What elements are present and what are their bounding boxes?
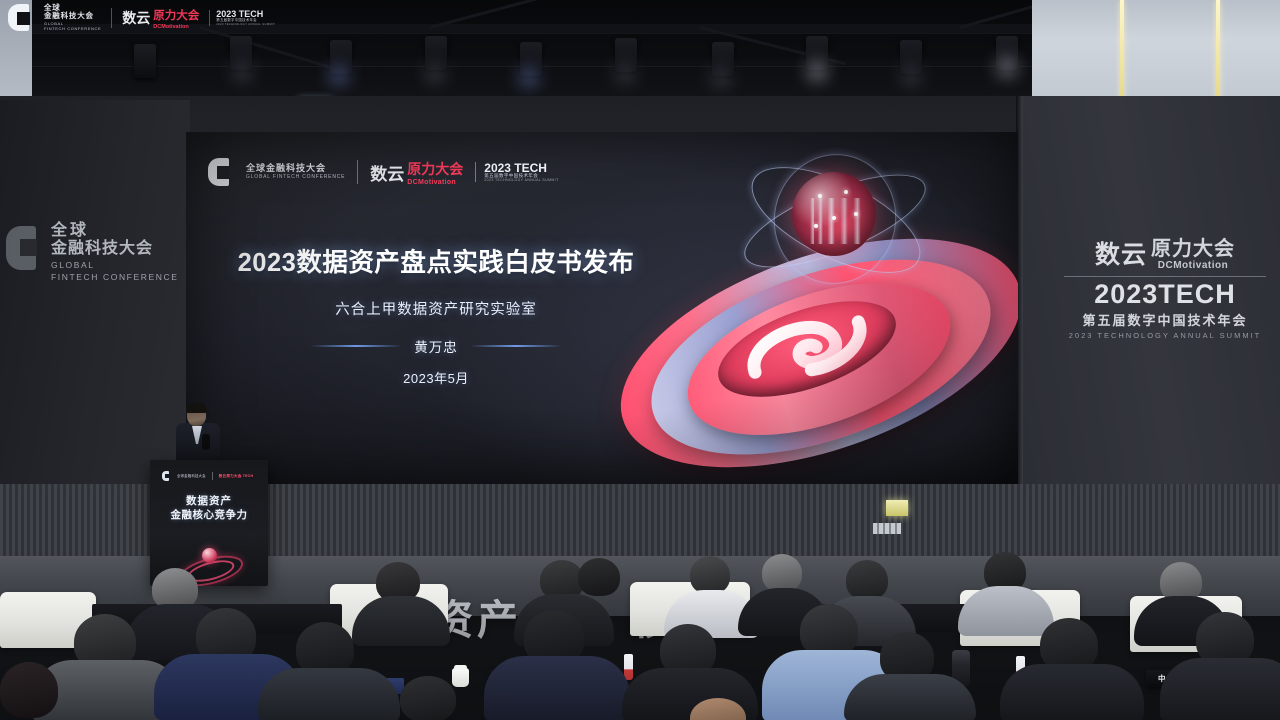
slide-subtitle: 六合上甲数据资产研究实验室 xyxy=(226,298,646,319)
watermark-en-line2: FINTECH CONFERENCE xyxy=(44,27,101,31)
city-skyline-overlay xyxy=(810,198,864,244)
slide-speaker-name: 黄万忠 xyxy=(414,336,458,356)
light-glow xyxy=(512,60,546,94)
fintech-logo-icon xyxy=(208,158,234,186)
right-sign-en-sub: DCMotivation xyxy=(1151,260,1235,271)
audience-head xyxy=(690,556,730,594)
wall-vent-panel xyxy=(873,523,901,534)
light-glow xyxy=(225,54,259,88)
right-wall-signage: 数云 原力大会 DCMotivation 2023TECH 第五届数字中国技术年… xyxy=(1062,232,1268,340)
audience-head xyxy=(400,676,456,720)
light-glow xyxy=(608,56,642,90)
dc-en-text: DCMotivation xyxy=(407,179,463,186)
data-sphere xyxy=(792,172,876,256)
right-sign-yuanli: 原力大会 xyxy=(1151,238,1235,260)
podium-line2: 金融核心竞争力 xyxy=(150,509,268,523)
led-presentation-screen: 全球金融科技大会 GLOBAL FINTECH CONFERENCE 数云 原力… xyxy=(186,132,1018,484)
podium-text-block: 数据资产 金融核心竞争力 xyxy=(150,495,268,523)
podium-line1: 数据资产 xyxy=(150,495,268,509)
fintech-logo-icon xyxy=(162,471,171,481)
light-glow xyxy=(990,50,1024,84)
watermark-dc-en: DCMotivation xyxy=(153,24,199,30)
band-accent-line xyxy=(1120,0,1124,100)
audience-head xyxy=(0,662,58,718)
tech-en-text: 2023 TECHNOLOGY ANNUAL SUMMIT xyxy=(484,179,558,183)
presenter-figure xyxy=(176,404,220,466)
audience-shoulders xyxy=(258,668,400,720)
right-sign-cn-line: 第五届数字中国技术年会 xyxy=(1062,310,1268,329)
audience-area: 中国进出口银行 中信银行 中信银行 xyxy=(0,548,1280,720)
presenter-hair xyxy=(186,403,207,413)
audience-shoulders xyxy=(484,656,630,720)
left-sign-en-line1: GLOBAL xyxy=(51,261,179,271)
fintech-logo-icon xyxy=(6,226,44,270)
tech-summit-logo: 2023 TECH 第五届数字中国技术年会 2023 TECHNOLOGY AN… xyxy=(475,162,558,183)
light-glow xyxy=(418,56,452,90)
stage-light-fixture xyxy=(134,44,156,78)
light-glow xyxy=(894,58,928,92)
right-sign-shu: 数云 xyxy=(1095,235,1147,271)
left-wall-signage: 全球 金融科技大会 GLOBAL FINTECH CONFERENCE xyxy=(6,222,181,283)
speaker-rule-left xyxy=(310,345,402,347)
light-glow xyxy=(322,58,356,92)
watermark-separator xyxy=(111,8,112,28)
watermark-tech-en: 2023 TECHNOLOGY ANNUAL SUMMIT xyxy=(216,23,275,26)
left-sign-en-line2: FINTECH CONFERENCE xyxy=(51,273,179,283)
watermark-dcmotivation-logo: 数云 原力大会 DCMotivation xyxy=(122,6,199,30)
light-glow xyxy=(800,54,834,88)
watermark-shu: 数云 xyxy=(122,8,150,28)
tea-cup xyxy=(452,668,469,687)
right-sign-tech: TECH xyxy=(1158,279,1236,309)
band-accent-line xyxy=(1216,0,1220,100)
slide-text-block: 2023数据资产盘点实践白皮书发布 六合上甲数据资产研究实验室 黄万忠 2023… xyxy=(226,242,646,387)
exit-light xyxy=(886,500,908,516)
audience-head xyxy=(578,558,620,596)
right-sign-year: 2023 xyxy=(1094,279,1158,309)
left-sign-cn-line2: 金融科技大会 xyxy=(51,240,179,258)
slide-title: 2023数据资产盘点实践白皮书发布 xyxy=(226,242,646,279)
upper-light-band-right xyxy=(1032,0,1280,100)
watermark-cn-line2: 金融科技大会 xyxy=(44,12,101,20)
watermark-tech-logo: 2023 TECH 第五届数字中国技术年会 2023 TECHNOLOGY AN… xyxy=(209,10,275,26)
dc-yuanli-text: 原力大会 xyxy=(407,161,463,177)
audience-head xyxy=(762,554,802,592)
swirl-platform-3d-graphic xyxy=(586,142,1018,482)
fintech-logo-icon xyxy=(8,4,34,31)
slide-header-logos: 全球金融科技大会 GLOBAL FINTECH CONFERENCE 数云 原力… xyxy=(208,158,559,186)
audience-head xyxy=(846,560,888,600)
light-glow xyxy=(704,60,738,94)
slide-date: 2023年5月 xyxy=(226,368,646,387)
conference-stage-screenshot: 全球 金融科技大会 GLOBAL FINTECH CONFERENCE 数云 原… xyxy=(0,0,1280,720)
right-sign-divider xyxy=(1064,276,1266,277)
podium-logo-row: 全球金融科技大会 数云原力大会 TECH xyxy=(162,471,253,481)
logo-separator xyxy=(357,160,358,184)
speaker-rule-right xyxy=(470,345,562,347)
dcmotivation-logo: 数云 原力大会 DCMotivation xyxy=(370,159,463,186)
broadcast-watermark: 全球 金融科技大会 GLOBAL FINTECH CONFERENCE 数云 原… xyxy=(8,4,275,32)
orbiting-sphere-group xyxy=(782,164,886,268)
dc-shu-text: 数云 xyxy=(370,160,404,185)
podium-logo-red: 数云原力大会 TECH xyxy=(219,474,254,479)
podium-logo-separator xyxy=(212,472,213,480)
microphone-icon xyxy=(202,434,210,450)
left-sign-cn-line1: 全球 xyxy=(51,222,179,240)
audience-shoulders xyxy=(844,674,976,720)
slide-logo-fintech-cn: 全球金融科技大会 xyxy=(246,164,345,174)
watermark-yuanli: 原力大会 xyxy=(153,10,199,22)
slide-logo-fintech-en: GLOBAL FINTECH CONFERENCE xyxy=(246,175,345,181)
podium-logo-cn: 全球金融科技大会 xyxy=(177,474,206,478)
slide-speaker-row: 黄万忠 xyxy=(226,336,646,356)
water-bottle xyxy=(624,654,633,680)
audience-shoulders xyxy=(1160,658,1280,720)
audience-shoulders xyxy=(1000,664,1144,720)
right-sign-en-line: 2023 TECHNOLOGY ANNUAL SUMMIT xyxy=(1062,331,1268,340)
